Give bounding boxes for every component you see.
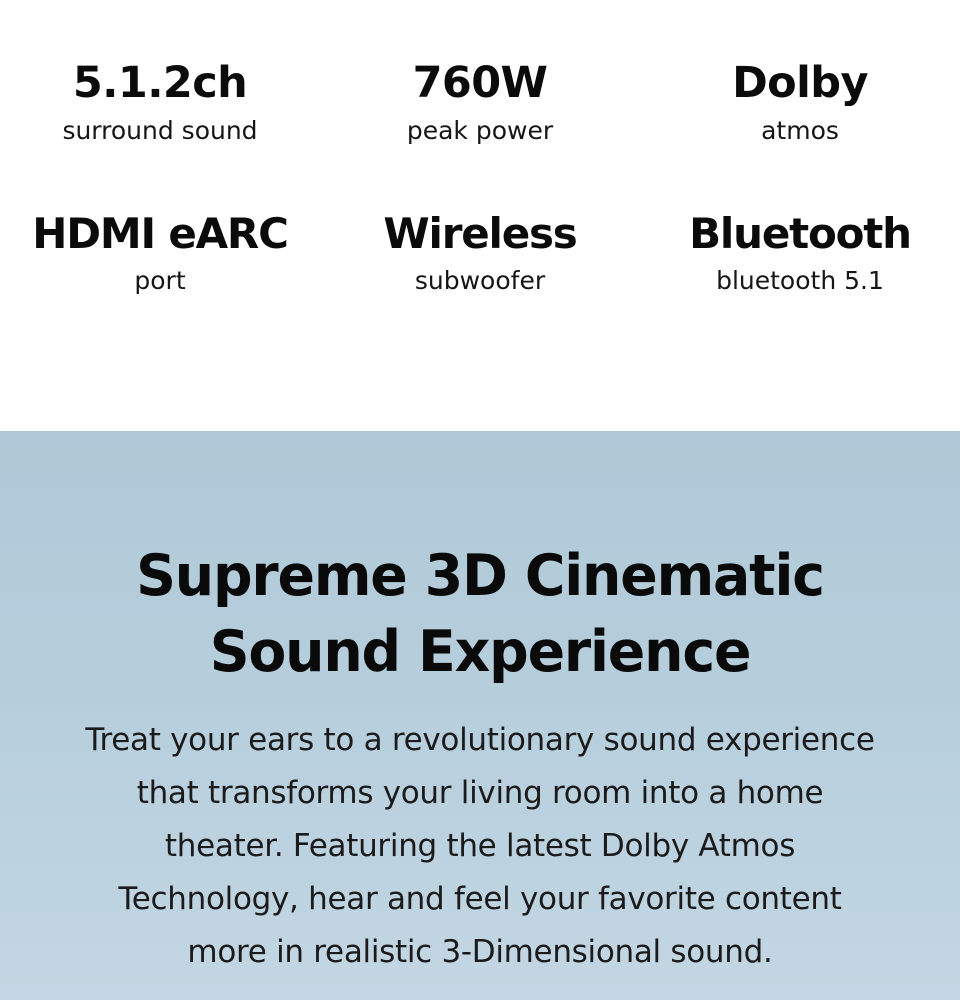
spec-value: 760W [326,60,634,106]
hero-title-line-2: Sound Experience [210,619,751,685]
hero-title: Supreme 3D CinematicSound Experience [111,538,848,690]
spec-label: subwoofer [326,265,634,296]
spec-item-hdmi-earc: HDMI eARC port [0,211,320,297]
spec-value: 5.1.2ch [6,60,314,106]
hero-section: Supreme 3D CinematicSound Experience Tre… [0,431,960,1000]
product-detail-page: 5.1.2ch surround sound 760W peak power D… [0,0,960,1000]
hero-title-line-1: Supreme 3D Cinematic [136,543,824,609]
spec-item-peak-power: 760W peak power [320,60,640,147]
spec-label: bluetooth 5.1 [646,265,954,296]
spec-value: Bluetooth [646,211,954,256]
spec-label: peak power [326,115,634,146]
spec-item-bluetooth: Bluetooth bluetooth 5.1 [640,211,960,297]
spec-value: Wireless [326,211,634,256]
spec-item-wireless-subwoofer: Wireless subwoofer [320,211,640,297]
spec-value: Dolby [646,60,954,106]
spec-item-surround-sound: 5.1.2ch surround sound [0,60,320,147]
spec-value: HDMI eARC [6,211,314,256]
spec-label: surround sound [6,115,314,146]
hero-description: Treat your ears to a revolutionary sound… [80,714,880,979]
specs-section: 5.1.2ch surround sound 760W peak power D… [0,0,960,431]
spec-label: port [6,265,314,296]
specs-row-1: 5.1.2ch surround sound 760W peak power D… [0,60,960,147]
spec-item-dolby-atmos: Dolby atmos [640,60,960,147]
spec-label: atmos [646,115,954,146]
specs-row-2: HDMI eARC port Wireless subwoofer Blueto… [0,211,960,297]
